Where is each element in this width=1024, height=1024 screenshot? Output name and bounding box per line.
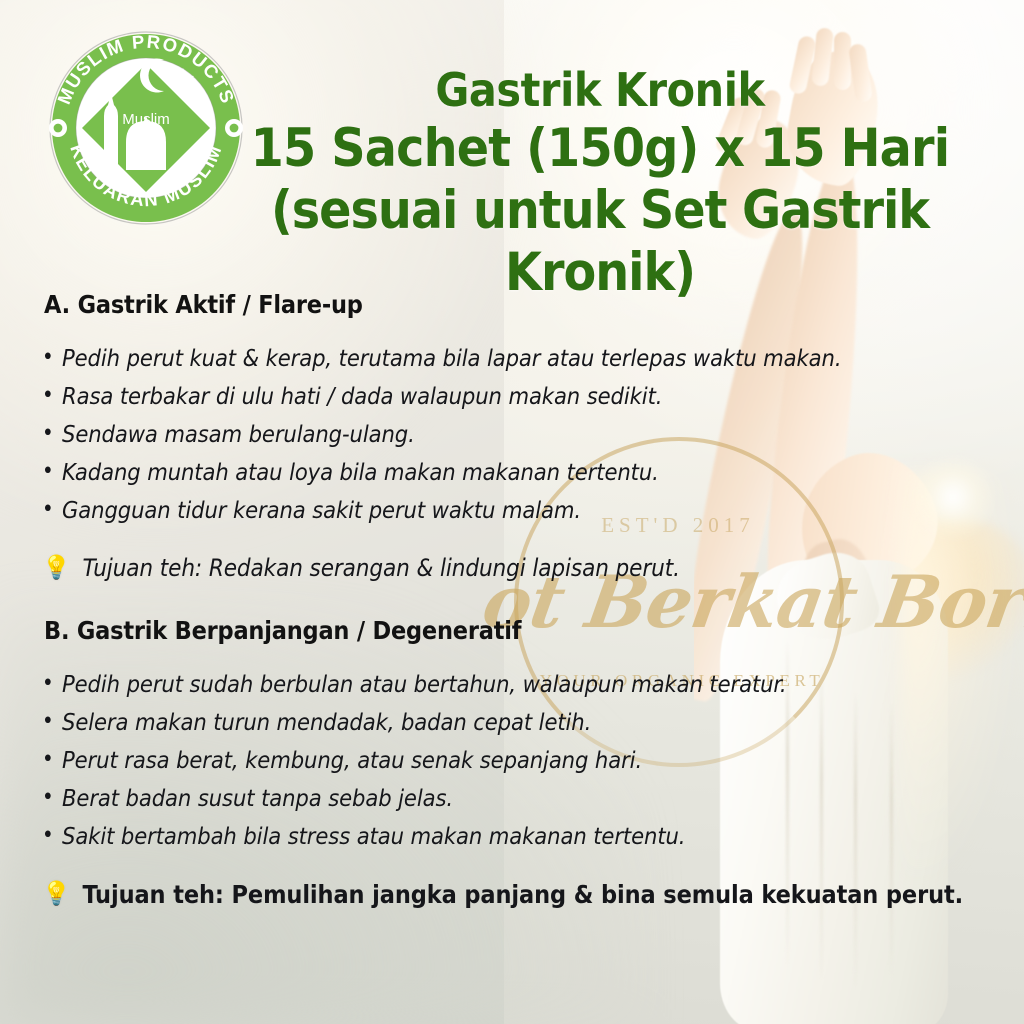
svg-text:Muslim: Muslim bbox=[122, 111, 170, 128]
list-item: Kadang muntah atau loya bila makan makan… bbox=[62, 455, 1024, 490]
list-item: Sendawa masam berulang-ulang. bbox=[62, 417, 1024, 452]
page-title: Gastrik Kronik 15 Sachet (150g) x 15 Har… bbox=[200, 62, 1000, 304]
list-item: Pedih perut sudah berbulan atau bertahun… bbox=[62, 667, 1024, 702]
section-b-heading: B. Gastrik Berpanjangan / Degeneratif bbox=[44, 616, 1024, 645]
section-a-tujuan: 💡 Tujuan teh: Redakan serangan & lindung… bbox=[42, 554, 1024, 582]
section-a-heading: A. Gastrik Aktif / Flare-up bbox=[44, 290, 1024, 319]
list-item: Selera makan turun mendadak, badan cepat… bbox=[62, 705, 1024, 740]
list-item: Gangguan tidur kerana sakit perut waktu … bbox=[62, 493, 1024, 528]
title-line-1: Gastrik Kronik bbox=[200, 62, 1000, 118]
list-item: Pedih perut kuat & kerap, terutama bila … bbox=[62, 341, 1024, 376]
lightbulb-icon: 💡 bbox=[42, 883, 71, 906]
section-b-tujuan: 💡 Tujuan teh: Pemulihan jangka panjang &… bbox=[42, 880, 1024, 909]
section-b-tujuan-text: Tujuan teh: Pemulihan jangka panjang & b… bbox=[83, 880, 964, 909]
content-body: A. Gastrik Aktif / Flare-up Pedih perut … bbox=[0, 290, 1024, 909]
list-item: Perut rasa berat, kembung, atau senak se… bbox=[62, 743, 1024, 778]
section-a-bullets: Pedih perut kuat & kerap, terutama bila … bbox=[0, 341, 1024, 528]
list-item: Berat badan susut tanpa sebab jelas. bbox=[62, 781, 1024, 816]
list-item: Sakit bertambah bila stress atau makan m… bbox=[62, 819, 1024, 854]
section-a-tujuan-text: Tujuan teh: Redakan serangan & lindungi … bbox=[83, 554, 680, 582]
poster-canvas: EST'D 2017 ot Berkat Borneo YOUR ORGANIC… bbox=[0, 0, 1024, 1024]
section-b-bullets: Pedih perut sudah berbulan atau bertahun… bbox=[0, 667, 1024, 854]
title-line-3: (sesuai untuk Set Gastrik Kronik) bbox=[200, 180, 1000, 304]
title-line-2: 15 Sachet (150g) x 15 Hari bbox=[200, 118, 1000, 180]
list-item: Rasa terbakar di ulu hati / dada walaupu… bbox=[62, 379, 1024, 414]
lightbulb-icon: 💡 bbox=[42, 557, 71, 580]
